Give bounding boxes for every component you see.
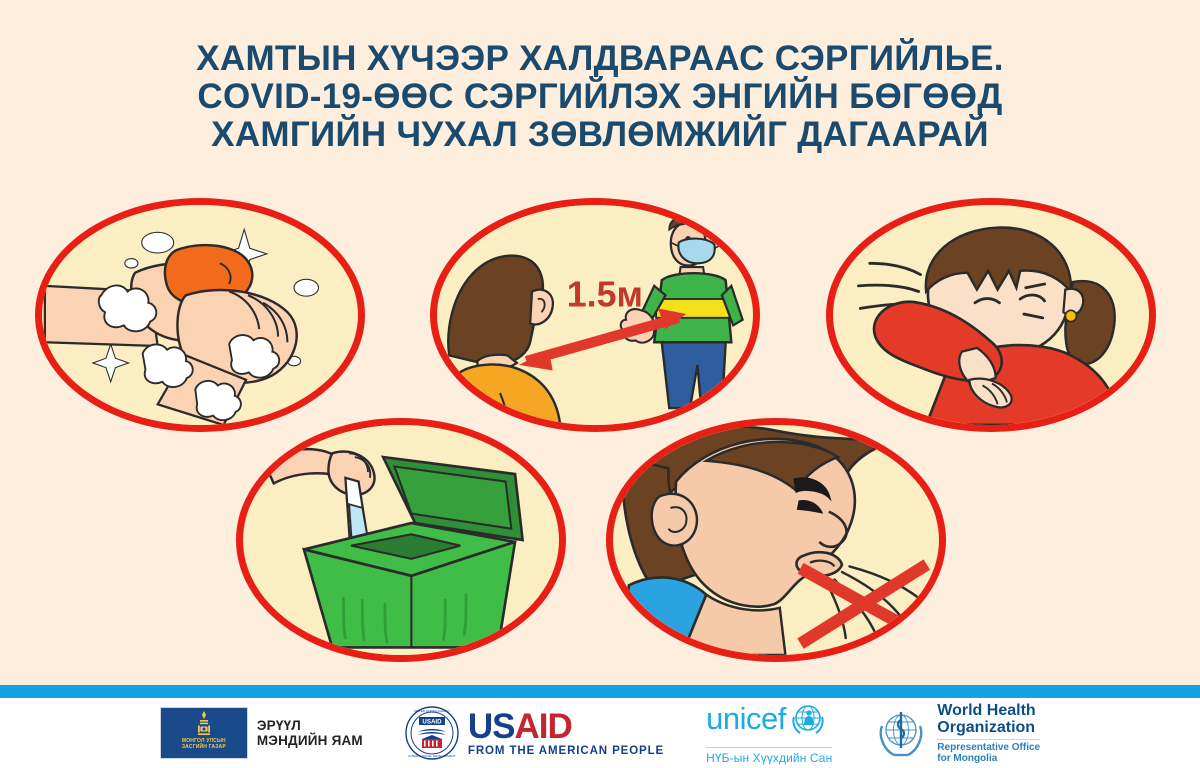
usaid-word-aid: AID	[515, 707, 572, 746]
title-line-2: COVID-19-ӨӨС СЭРГИЙЛЭХ ЭНГИЙН БӨГӨӨД	[0, 78, 1200, 116]
accent-stripe	[0, 685, 1200, 698]
usaid-seal-icon: USAID UNITED STATES AGENCY INTERNATIONAL…	[405, 706, 459, 760]
usaid-tagline: FROM THE AMERICAN PEOPLE	[468, 745, 664, 757]
poster-canvas: ХАМТЫН ХҮЧЭЭР ХАЛДВАРААС СЭРГИЙЛЬЕ. COVI…	[0, 0, 1200, 768]
who-name-line-1: World Health	[937, 702, 1040, 719]
who-sub-line-2: for Mongolia	[937, 753, 1040, 764]
moh-name-line-1: ЭРҮҮЛ	[257, 718, 363, 733]
wash-hands-illustration	[35, 198, 365, 432]
unicef-subtitle: НҮБ-ын Хүүхдийн Сан	[706, 747, 832, 765]
title-line-1: ХАМТЫН ХҮЧЭЭР ХАЛДВАРААС СЭРГИЙЛЬЕ.	[0, 40, 1200, 78]
unicef-wordmark: unicef	[706, 703, 786, 734]
who-name-line-2: Organization	[937, 719, 1040, 736]
social-distance-illustration: 1.5м	[430, 198, 760, 432]
svg-text:UNITED STATES AGENCY: UNITED STATES AGENCY	[414, 709, 451, 713]
logo-who: World Health Organization Representative…	[874, 702, 1040, 764]
mongolia-government-emblem: МОНГОЛ УЛСЫН ЗАСГИЙН ГАЗАР	[160, 707, 248, 759]
dispose-tissue-illustration	[236, 418, 566, 662]
usaid-wordmark: USAID FROM THE AMERICAN PEOPLE	[468, 710, 664, 757]
who-wordmark: World Health Organization Representative…	[937, 702, 1040, 764]
cough-into-elbow-illustration	[826, 198, 1156, 432]
who-sub-line-1: Representative Office	[937, 742, 1040, 753]
ministry-of-health-name: ЭРҮҮЛ МЭНДИЙН ЯАМ	[257, 718, 363, 748]
logo-unicef: unicef НҮБ-ын Хүүхдийн Сан	[706, 701, 832, 765]
usaid-word-us: US	[468, 707, 515, 746]
partner-logos-footer: МОНГОЛ УЛСЫН ЗАСГИЙН ГАЗАР ЭРҮҮЛ МЭНДИЙН…	[0, 698, 1200, 768]
title-line-3: ХАМГИЙН ЧУХАЛ ЗӨВЛӨМЖИЙГ ДАГААРАЙ	[0, 116, 1200, 154]
emblem-text-line-2: ЗАСГИЙН ГАЗАР	[182, 744, 226, 750]
unicef-globe-icon	[791, 701, 825, 735]
svg-text:USAID: USAID	[422, 719, 442, 726]
moh-name-line-2: МЭНДИЙН ЯАМ	[257, 733, 363, 748]
who-emblem-icon	[874, 706, 928, 760]
soyombo-icon	[194, 711, 214, 737]
logo-ministry-of-health: МОНГОЛ УЛСЫН ЗАСГИЙН ГАЗАР ЭРҮҮЛ МЭНДИЙН…	[160, 707, 363, 759]
logo-usaid: USAID UNITED STATES AGENCY INTERNATIONAL…	[405, 706, 664, 760]
distance-label: 1.5м	[567, 275, 643, 315]
poster-title: ХАМТЫН ХҮЧЭЭР ХАЛДВАРААС СЭРГИЙЛЬЕ. COVI…	[0, 40, 1200, 154]
svg-text:INTERNATIONAL DEVELOPMENT: INTERNATIONAL DEVELOPMENT	[408, 754, 455, 758]
no-spitting-illustration	[606, 418, 946, 662]
